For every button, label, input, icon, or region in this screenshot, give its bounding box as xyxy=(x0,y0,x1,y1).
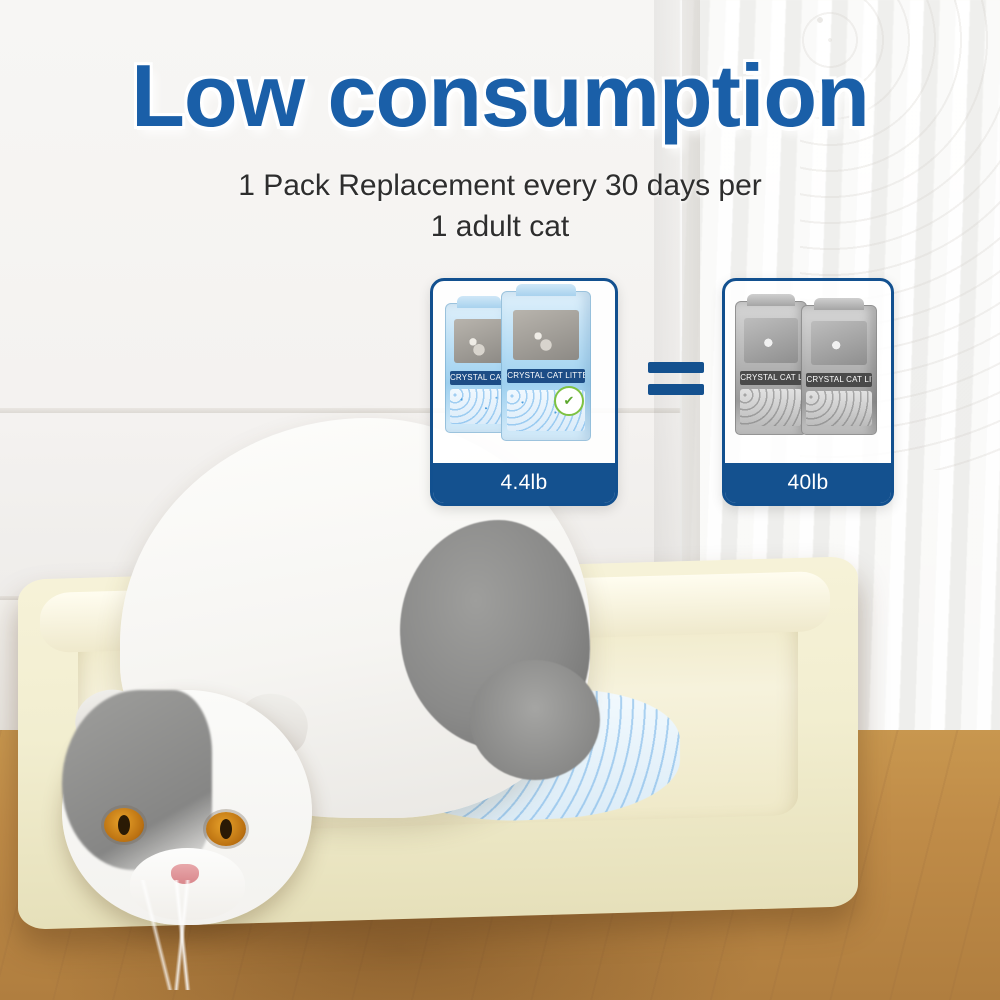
bag-cat-photo xyxy=(513,310,580,360)
headline: Low consumption xyxy=(0,52,1000,140)
cat-head-grey-marking xyxy=(62,690,212,870)
bag-brand-text: CRYSTAL CAT LITTER xyxy=(450,371,508,385)
grey-bag-left: CRYSTAL CAT LITTER xyxy=(735,301,807,435)
subheadline-line-2: 1 adult cat xyxy=(180,207,820,248)
bag-cat-photo xyxy=(744,318,797,363)
bag-brand-text: CRYSTAL CAT LITTER xyxy=(507,369,584,383)
cat-pupil-left xyxy=(118,815,130,835)
weight-label-left: 4.4lb xyxy=(433,463,615,503)
check-leaf-icon: ✔ xyxy=(554,386,584,416)
bag-brand-text: CRYSTAL CAT LITTER xyxy=(740,371,802,385)
bag-top-seal xyxy=(457,296,502,308)
subheadline-line-1: 1 Pack Replacement every 30 days per xyxy=(180,166,820,207)
equals-icon xyxy=(648,362,704,402)
comparison-panel-left: CRYSTAL CAT LITTER CRYSTAL CAT LITTER ✔ … xyxy=(430,278,618,506)
cat-tail xyxy=(470,660,600,780)
bag-cat-photo xyxy=(454,319,504,363)
bag-crystal-window xyxy=(740,389,802,426)
bag-brand-text: CRYSTAL CAT LITTER xyxy=(806,373,871,387)
cat-pupil-right xyxy=(220,819,232,839)
grey-bag-right: CRYSTAL CAT LITTER xyxy=(801,305,877,435)
product-infographic: Low consumption 1 Pack Replacement every… xyxy=(0,0,1000,1000)
comparison-panel-right: CRYSTAL CAT LITTER CRYSTAL CAT LITTER 40… xyxy=(722,278,894,506)
cat-nose xyxy=(171,864,199,884)
bag-cat-photo xyxy=(811,321,867,365)
clay-litter-bags-grey: CRYSTAL CAT LITTER CRYSTAL CAT LITTER xyxy=(725,281,891,453)
crystal-litter-bags-blue: CRYSTAL CAT LITTER CRYSTAL CAT LITTER ✔ xyxy=(433,281,615,453)
bag-top-seal xyxy=(814,298,864,310)
bag-crystal-window xyxy=(806,391,871,427)
subheadline: 1 Pack Replacement every 30 days per 1 a… xyxy=(180,166,820,247)
bag-top-seal xyxy=(747,294,795,306)
blue-bag-front: CRYSTAL CAT LITTER ✔ xyxy=(501,291,591,441)
bag-top-seal xyxy=(516,284,576,296)
bag-crystal-window xyxy=(450,389,508,425)
weight-label-right: 40lb xyxy=(725,463,891,503)
cat-muzzle xyxy=(130,848,245,920)
